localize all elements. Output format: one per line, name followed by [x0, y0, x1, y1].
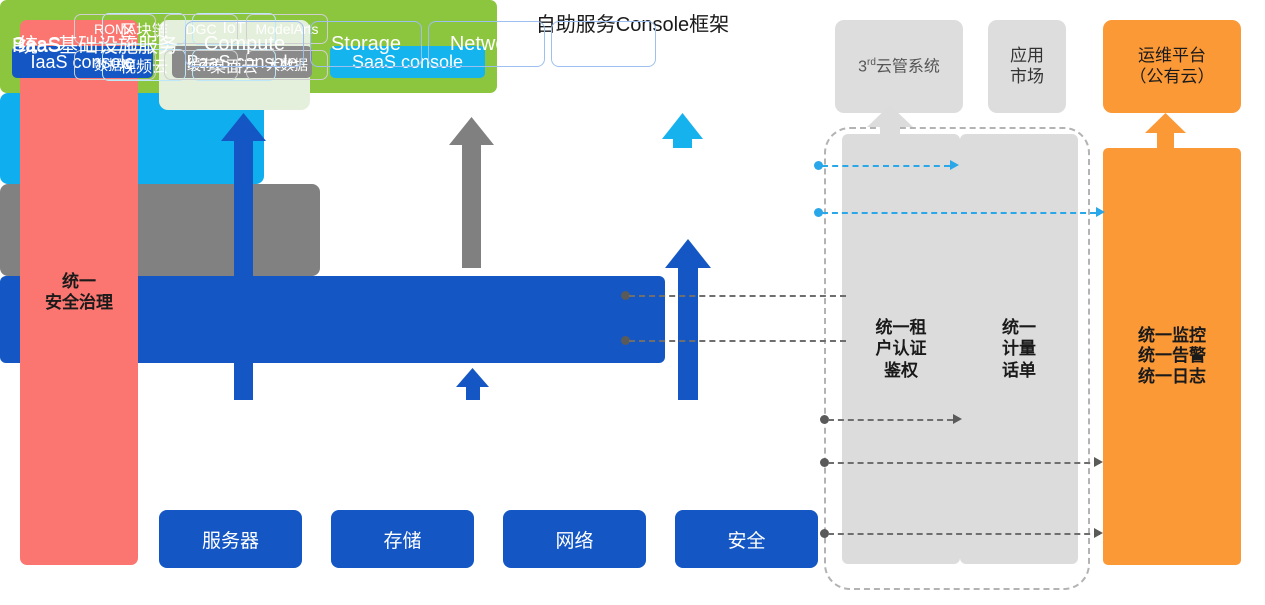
connector-paas-to-billing	[629, 340, 846, 342]
arrow-shared-to-third-party	[867, 105, 913, 134]
connector-arrowhead-saas-bottom	[1096, 207, 1105, 217]
connector-infra-to-metering	[828, 419, 953, 421]
connector-arrowhead-infra-bottom	[1094, 457, 1103, 467]
arrow-infra-to-api-gateway	[221, 113, 266, 400]
arrow-layer	[0, 0, 1265, 605]
arrow-saas-to-console	[662, 113, 703, 148]
architecture-diagram: 统一 安全治理 API网关 自助服务Console框架 IaaS console…	[0, 0, 1265, 605]
arrow-ops-body-to-header	[1145, 113, 1186, 148]
connector-arrowhead-hardware	[1094, 528, 1103, 538]
connector-arrowhead-infra-top	[953, 414, 962, 424]
connector-saas-to-metering	[822, 165, 950, 167]
arrow-paas-to-console	[449, 117, 494, 268]
connector-arrowhead-saas-top	[950, 160, 959, 170]
connector-infra-to-ops	[828, 462, 1100, 464]
connector-paas-to-auth	[629, 295, 846, 297]
arrow-infra-to-saas	[665, 239, 711, 400]
connector-saas-to-ops	[822, 212, 1096, 214]
connector-hardware-to-ops	[828, 533, 1100, 535]
arrow-infra-to-paas	[456, 368, 489, 400]
